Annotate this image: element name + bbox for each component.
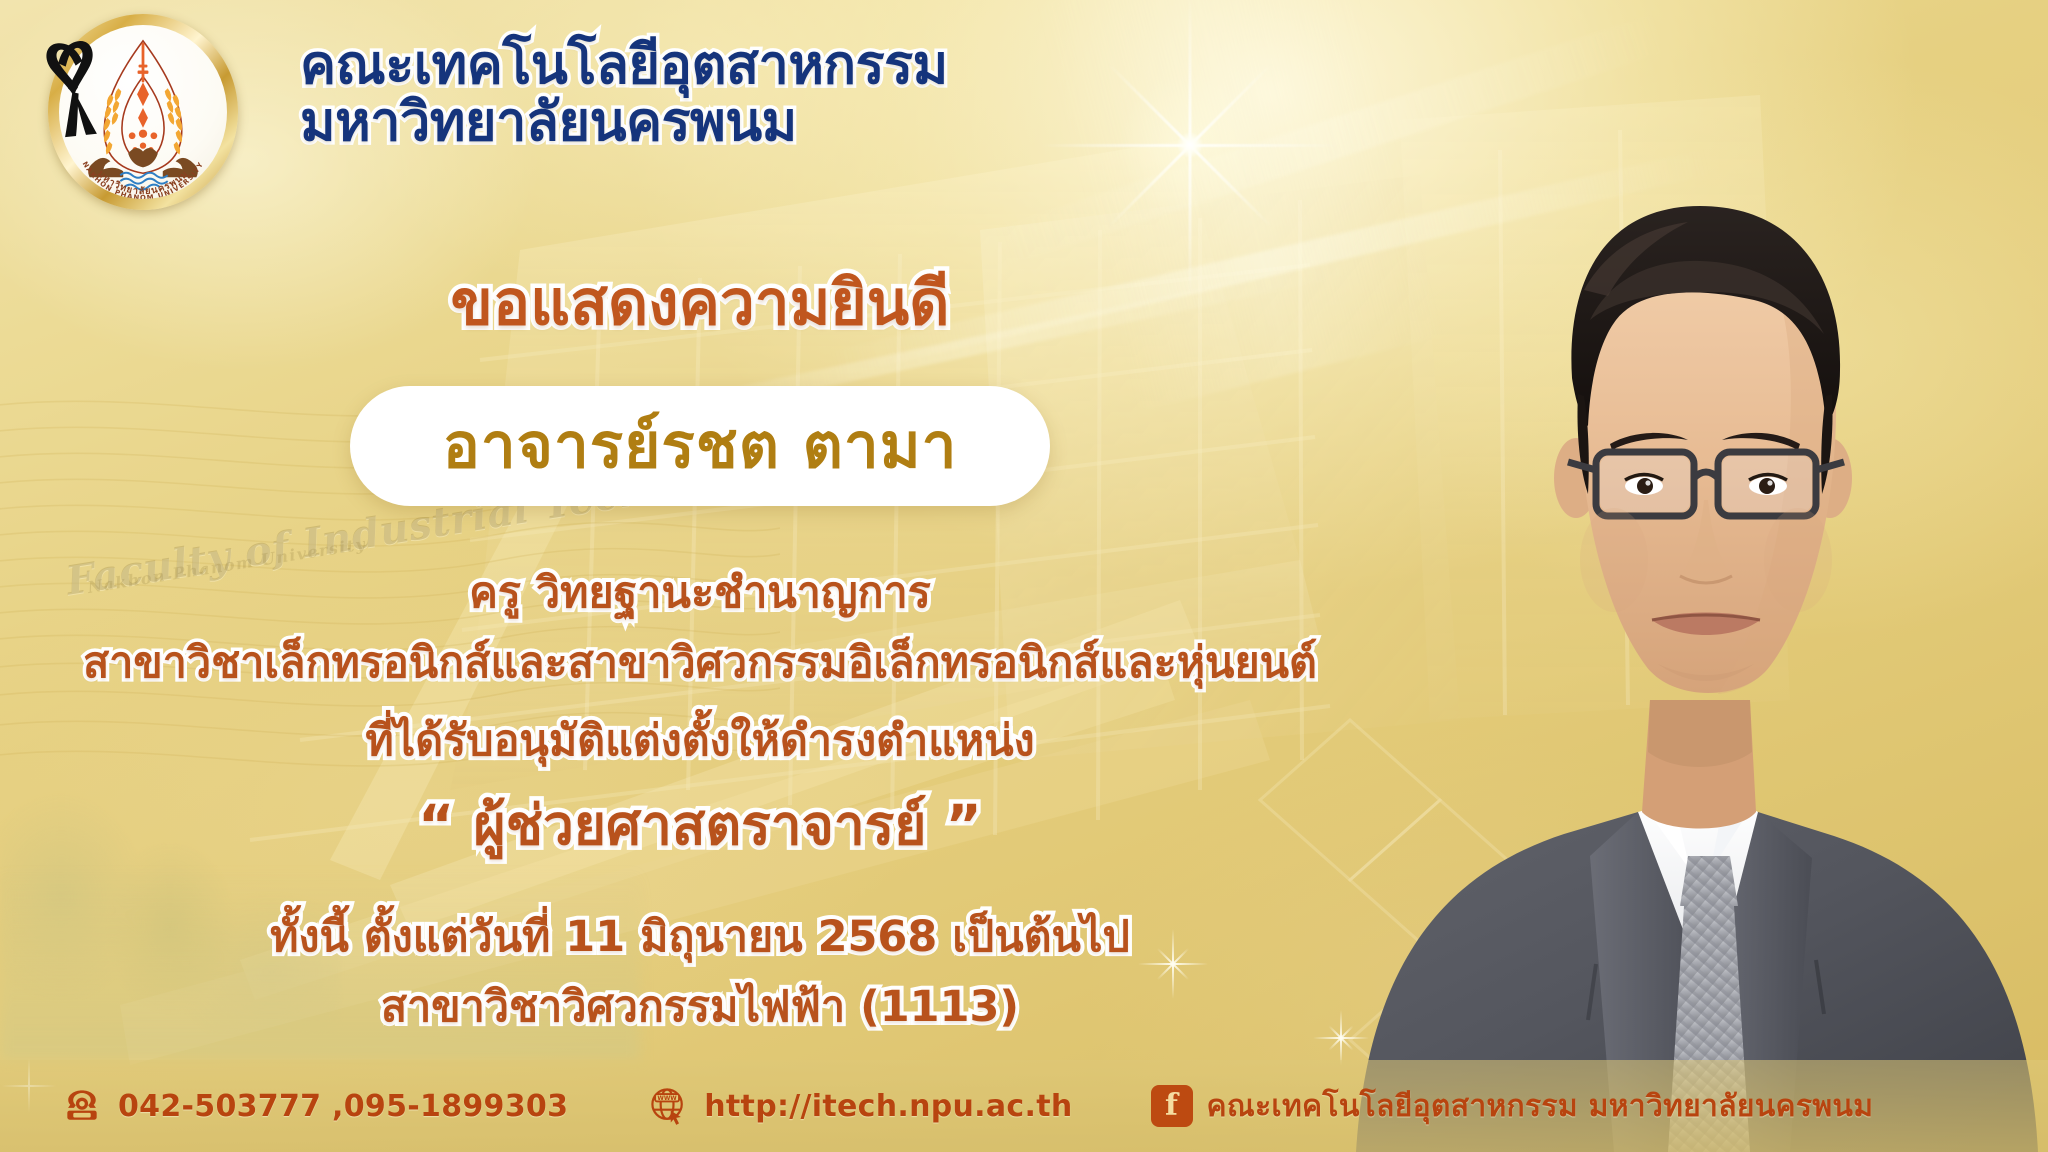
appointment-statement: ที่ได้รับอนุมัติแต่งตั้งให้ดำรงตำแหน่ง [0, 706, 1400, 774]
footer-phone-number: 042-503777 ,095-1899303 [118, 1089, 568, 1124]
honoree-department: สาขาวิชาเล็กทรอนิกส์และสาขาวิศวกรรมอิเล็… [0, 628, 1400, 696]
telephone-icon [60, 1084, 104, 1128]
main-content: ขอแสดงความยินดี อาจารย์รชต ตามา ครู วิทย… [0, 0, 1400, 1152]
congratulations-poster: Faculty of Industrial Technology Nakhon … [0, 0, 2048, 1152]
honoree-name-pill: อาจารย์รชต ตามา [350, 386, 1050, 506]
footer-contact-bar: 042-503777 ,095-1899303 WWW http://itech… [0, 1060, 2048, 1152]
footer-phone: 042-503777 ,095-1899303 [60, 1084, 568, 1128]
honoree-rank: ครู วิทยฐานะชำนาญการ [0, 558, 1400, 626]
footer-facebook-page[interactable]: คณะเทคโนโลยีอุตสาหกรรม มหาวิทยาลัยนครพนม [1207, 1083, 1874, 1130]
major-field: สาขาวิชาวิศวกรรมไฟฟ้า (1113) [0, 972, 1400, 1040]
facebook-icon: f [1151, 1085, 1193, 1127]
honoree-name: อาจารย์รชต ตามา [443, 397, 958, 495]
mourning-ribbon-icon [33, 33, 113, 144]
footer-website[interactable]: WWW http://itech.npu.ac.th [646, 1084, 1072, 1128]
svg-text:WWW: WWW [658, 1096, 678, 1102]
new-position: “ ผู้ช่วยศาสตราจารย์ ” [0, 782, 1400, 869]
footer-website-url[interactable]: http://itech.npu.ac.th [704, 1089, 1072, 1124]
congratulations-heading: ขอแสดงความยินดี [0, 254, 1400, 352]
effective-date: ทั้งนี้ ตั้งแต่วันที่ 11 มิถุนายน 2568 เ… [0, 902, 1400, 970]
globe-www-icon: WWW [646, 1084, 690, 1128]
footer-facebook[interactable]: f คณะเทคโนโลยีอุตสาหกรรม มหาวิทยาลัยนครพ… [1151, 1083, 1874, 1130]
